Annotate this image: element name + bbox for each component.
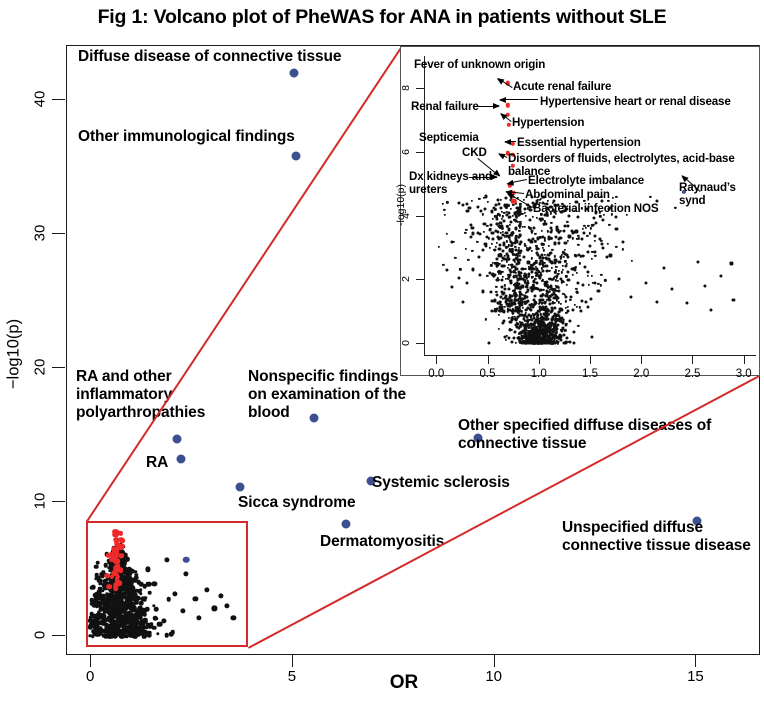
main-x-tick <box>292 655 293 667</box>
inset-anno-septicemia: Septicemia <box>419 131 479 144</box>
inset-y-axis-title: -log10(p) <box>395 184 407 226</box>
anno-unspecified-diffuse-ctd: Unspecified diffuse connective tissue di… <box>562 519 764 555</box>
inset-anno-hypertensive-heart-renal-disease: Hypertensive heart or renal disease <box>540 95 731 108</box>
inset-arrow <box>500 99 538 100</box>
main-x-tick-label: 10 <box>485 668 502 685</box>
inset-anno-fever-unknown-origin: Fever of unknown origin <box>414 58 545 71</box>
data-point-blue <box>289 69 298 78</box>
inset-anno-abdominal-pain: Abdominal pain <box>525 188 610 201</box>
figure-title: Fig 1: Volcano plot of PheWAS for ANA in… <box>0 6 764 29</box>
anno-diffuse-disease-connective-tissue: Diffuse disease of connective tissue <box>78 48 408 66</box>
inset-x-tick <box>436 356 437 364</box>
inset-arrow <box>469 177 497 178</box>
anno-ra-and-other-inflammatory-polyarthropathies: RA and other inflammatory polyarthropath… <box>76 368 256 422</box>
anno-other-immunological-findings: Other immunological findings <box>78 128 378 146</box>
anno-dermatomyositis: Dermatomyositis <box>320 533 510 551</box>
inset-y-tick <box>416 279 424 280</box>
inset-x-tick <box>744 356 745 364</box>
inset-x-tick <box>641 356 642 364</box>
inset-y-tick-label: 6 <box>400 149 412 155</box>
main-x-axis-title: OR <box>390 672 419 694</box>
inset-x-tick-label: 1.5 <box>582 368 598 380</box>
main-y-tick <box>52 635 65 636</box>
inset-anno-acute-renal-failure: Acute renal failure <box>513 80 611 93</box>
main-x-tick <box>90 655 91 667</box>
inset-x-tick-label: 0.5 <box>480 368 496 380</box>
anno-nonspecific-findings-blood: Nonspecific findings on examination of t… <box>248 368 448 422</box>
main-y-tick <box>52 367 65 368</box>
inset-x-tick-label: 0.0 <box>428 368 444 380</box>
inset-anno-renal-failure: Renal failure <box>411 100 479 113</box>
inset-y-tick-label: 4 <box>400 213 412 219</box>
inset-anno-ckd: CKD <box>462 146 487 159</box>
inset-anno-bacterial-infection-nos: Bacterial infection NOS <box>533 202 658 215</box>
main-x-tick-label: 5 <box>288 668 296 685</box>
anno-sicca-syndrome: Sicca syndrome <box>238 494 398 512</box>
inset-arrow <box>505 141 516 142</box>
main-y-tick <box>52 233 65 234</box>
inset-y-tick-label: 8 <box>400 85 412 91</box>
inset-arrow <box>477 106 499 107</box>
main-y-tick <box>52 501 65 502</box>
inset-y-tick <box>416 88 424 89</box>
inset-x-tick <box>590 356 591 364</box>
main-x-tick-label: 0 <box>86 668 94 685</box>
inset-x-tick <box>539 356 540 364</box>
inset-x-tick-label: 1.0 <box>531 368 547 380</box>
inset-anno-electrolyte-imbalance: Electrolyte imbalance <box>528 174 644 187</box>
main-x-tick-label: 15 <box>687 668 704 685</box>
anno-other-specified-diffuse-diseases: Other specified diffuse diseases of conn… <box>458 417 758 453</box>
volcano-plot-figure: Fig 1: Volcano plot of PheWAS for ANA in… <box>0 0 764 709</box>
main-y-axis-title: −log10(p) <box>5 319 24 389</box>
main-y-tick-label: 20 <box>32 358 49 375</box>
main-y-tick-label: 0 <box>32 631 49 639</box>
main-x-tick <box>494 655 495 667</box>
inset-x-tick <box>692 356 693 364</box>
main-y-tick-label: 10 <box>32 492 49 509</box>
main-x-tick <box>695 655 696 667</box>
inset-x-tick-label: 3.0 <box>736 368 752 380</box>
data-point-blue <box>291 152 300 161</box>
inset-y-tick <box>416 152 424 153</box>
inset-y-tick-label: 2 <box>400 276 412 282</box>
inset-anno-dx-kidneys-ureters: Dx kidneys and ureters <box>409 170 492 196</box>
inset-anno-essential-hypertension: Essential hypertension <box>517 136 641 149</box>
main-y-tick <box>52 99 65 100</box>
zoom-region-box <box>86 521 248 647</box>
inset-anno-hypertension: Hypertension <box>512 116 584 129</box>
main-y-tick-label: 30 <box>32 224 49 241</box>
inset-x-tick-label: 2.5 <box>684 368 700 380</box>
anno-ra: RA <box>146 454 206 472</box>
inset-y-tick-label: 0 <box>400 340 412 346</box>
inset-x-tick-label: 2.0 <box>633 368 649 380</box>
main-y-tick-label: 40 <box>32 90 49 107</box>
inset-y-tick <box>416 216 424 217</box>
data-point-blue <box>235 483 244 492</box>
data-point-blue <box>342 519 351 528</box>
data-point-blue <box>172 435 181 444</box>
inset-x-tick <box>488 356 489 364</box>
inset-y-tick <box>416 343 424 344</box>
